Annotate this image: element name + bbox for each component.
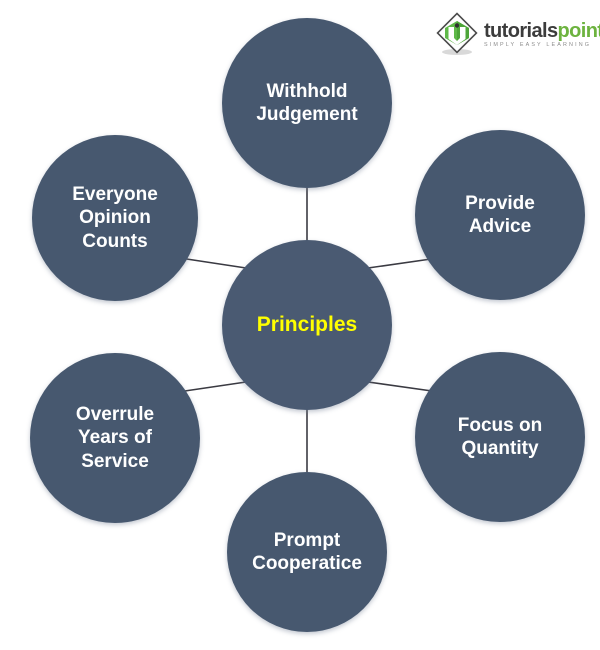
diagram-canvas: Withhold JudgementProvide AdviceFocus on… xyxy=(0,0,600,650)
node-label-prompt-cooperatice: Prompt Cooperatice xyxy=(242,529,372,575)
logo-wordmark: tutorialspoint xyxy=(484,21,600,41)
node-everyone-opinion-counts[interactable]: Everyone Opinion Counts xyxy=(32,135,198,301)
node-overrule-years-of-service[interactable]: Overrule Years of Service xyxy=(30,353,200,523)
node-label-focus-on-quantity: Focus on Quantity xyxy=(448,414,552,460)
node-focus-on-quantity[interactable]: Focus on Quantity xyxy=(415,352,585,522)
node-label-everyone-opinion-counts: Everyone Opinion Counts xyxy=(62,183,168,253)
node-label-overrule-years-of-service: Overrule Years of Service xyxy=(66,403,164,473)
node-provide-advice[interactable]: Provide Advice xyxy=(415,130,585,300)
node-prompt-cooperatice[interactable]: Prompt Cooperatice xyxy=(227,472,387,632)
tutorialspoint-logo: tutorialspoint SIMPLY EASY LEARNING xyxy=(434,8,594,60)
connector-hub-to-top-left xyxy=(180,258,246,268)
node-label-principles: Principles xyxy=(247,312,367,338)
logo-word-point: point xyxy=(558,20,600,42)
connector-hub-to-bottom-left xyxy=(178,382,246,392)
node-label-withhold-judgement: Withhold Judgement xyxy=(246,80,367,126)
logo-word-tutorials: tutorials xyxy=(484,20,558,42)
logo-tagline: SIMPLY EASY LEARNING xyxy=(484,43,600,48)
node-principles[interactable]: Principles xyxy=(222,240,392,410)
diamond-book-icon xyxy=(434,11,480,57)
node-withhold-judgement[interactable]: Withhold Judgement xyxy=(222,18,392,188)
node-label-provide-advice: Provide Advice xyxy=(455,192,545,238)
